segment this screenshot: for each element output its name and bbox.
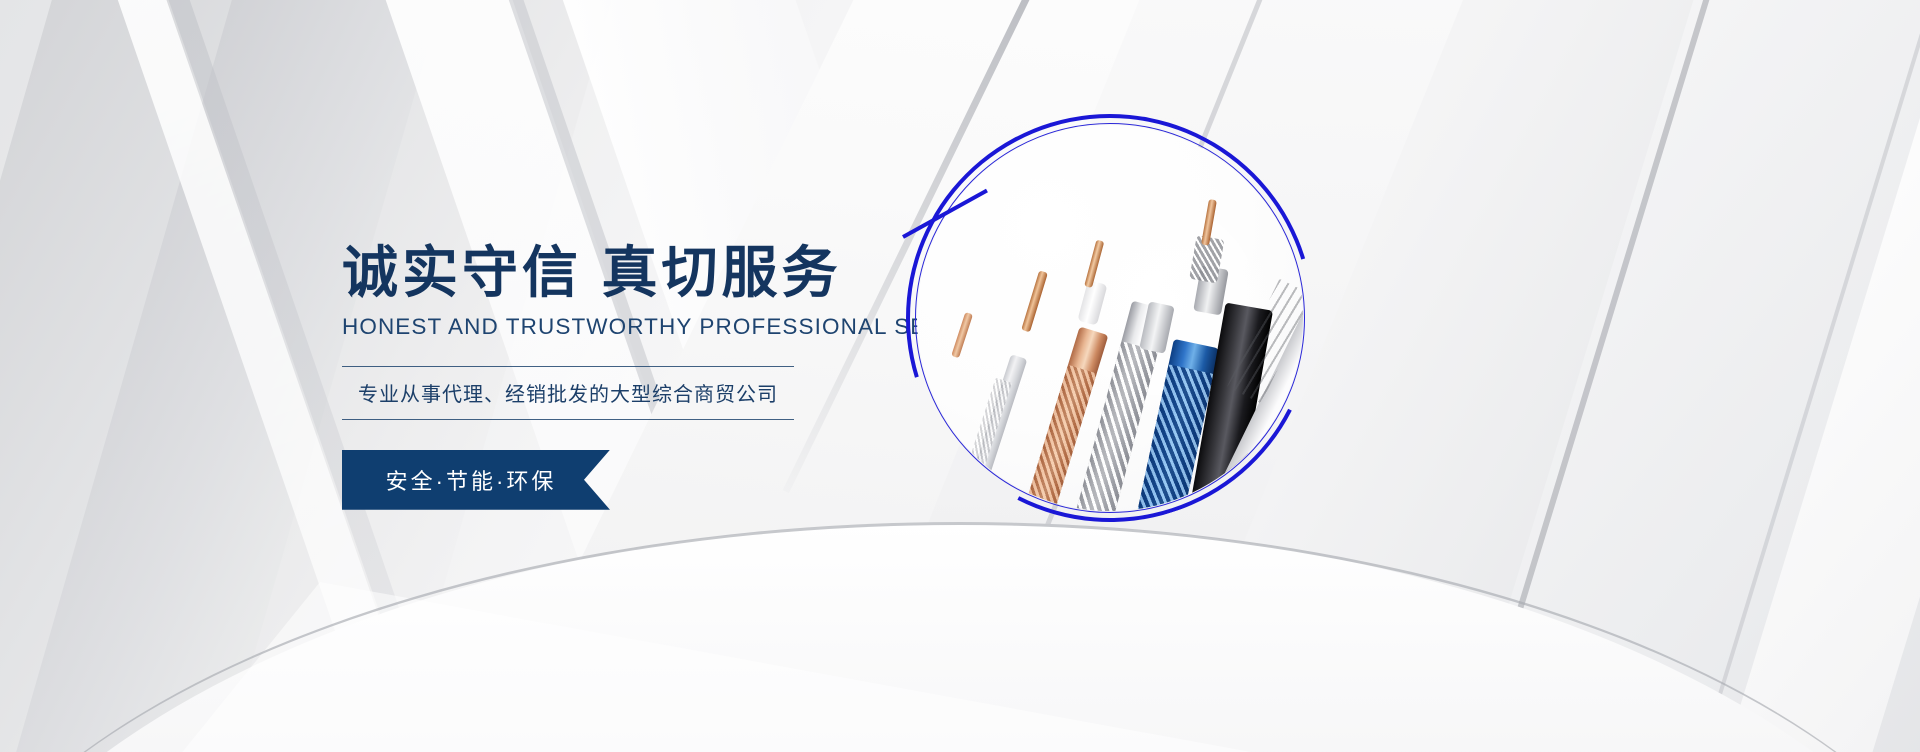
background-floor-sweep xyxy=(0,522,1920,752)
divider-bottom xyxy=(342,419,794,420)
banner-headline: 诚实守信 真切服务 xyxy=(342,242,862,304)
banner-badge-row: 安全·节能·环保 xyxy=(342,450,862,510)
background-floor-line xyxy=(0,522,1920,752)
banner-subheadline-english: HONEST AND TRUSTWORTHY PROFESSIONAL SERV… xyxy=(342,314,862,340)
feature-badge: 安全·节能·环保 xyxy=(342,450,610,510)
product-medallion xyxy=(915,123,1305,513)
background-right-panel-highlight xyxy=(1665,0,1920,752)
hero-banner: 诚实守信 真切服务 HONEST AND TRUSTWORTHY PROFESS… xyxy=(0,0,1920,752)
banner-description: 专业从事代理、经销批发的大型综合商贸公司 xyxy=(342,367,794,419)
ring-arc-thick-bottom xyxy=(853,61,1367,575)
divider-top xyxy=(342,366,794,367)
background-right-edge-secondary xyxy=(1633,0,1920,752)
banner-description-group: 专业从事代理、经销批发的大型综合商贸公司 xyxy=(342,366,794,420)
banner-text-block: 诚实守信 真切服务 HONEST AND TRUSTWORTHY PROFESS… xyxy=(342,0,862,752)
background-right-edge xyxy=(1406,0,1768,752)
background-right-panel xyxy=(1419,0,1920,752)
